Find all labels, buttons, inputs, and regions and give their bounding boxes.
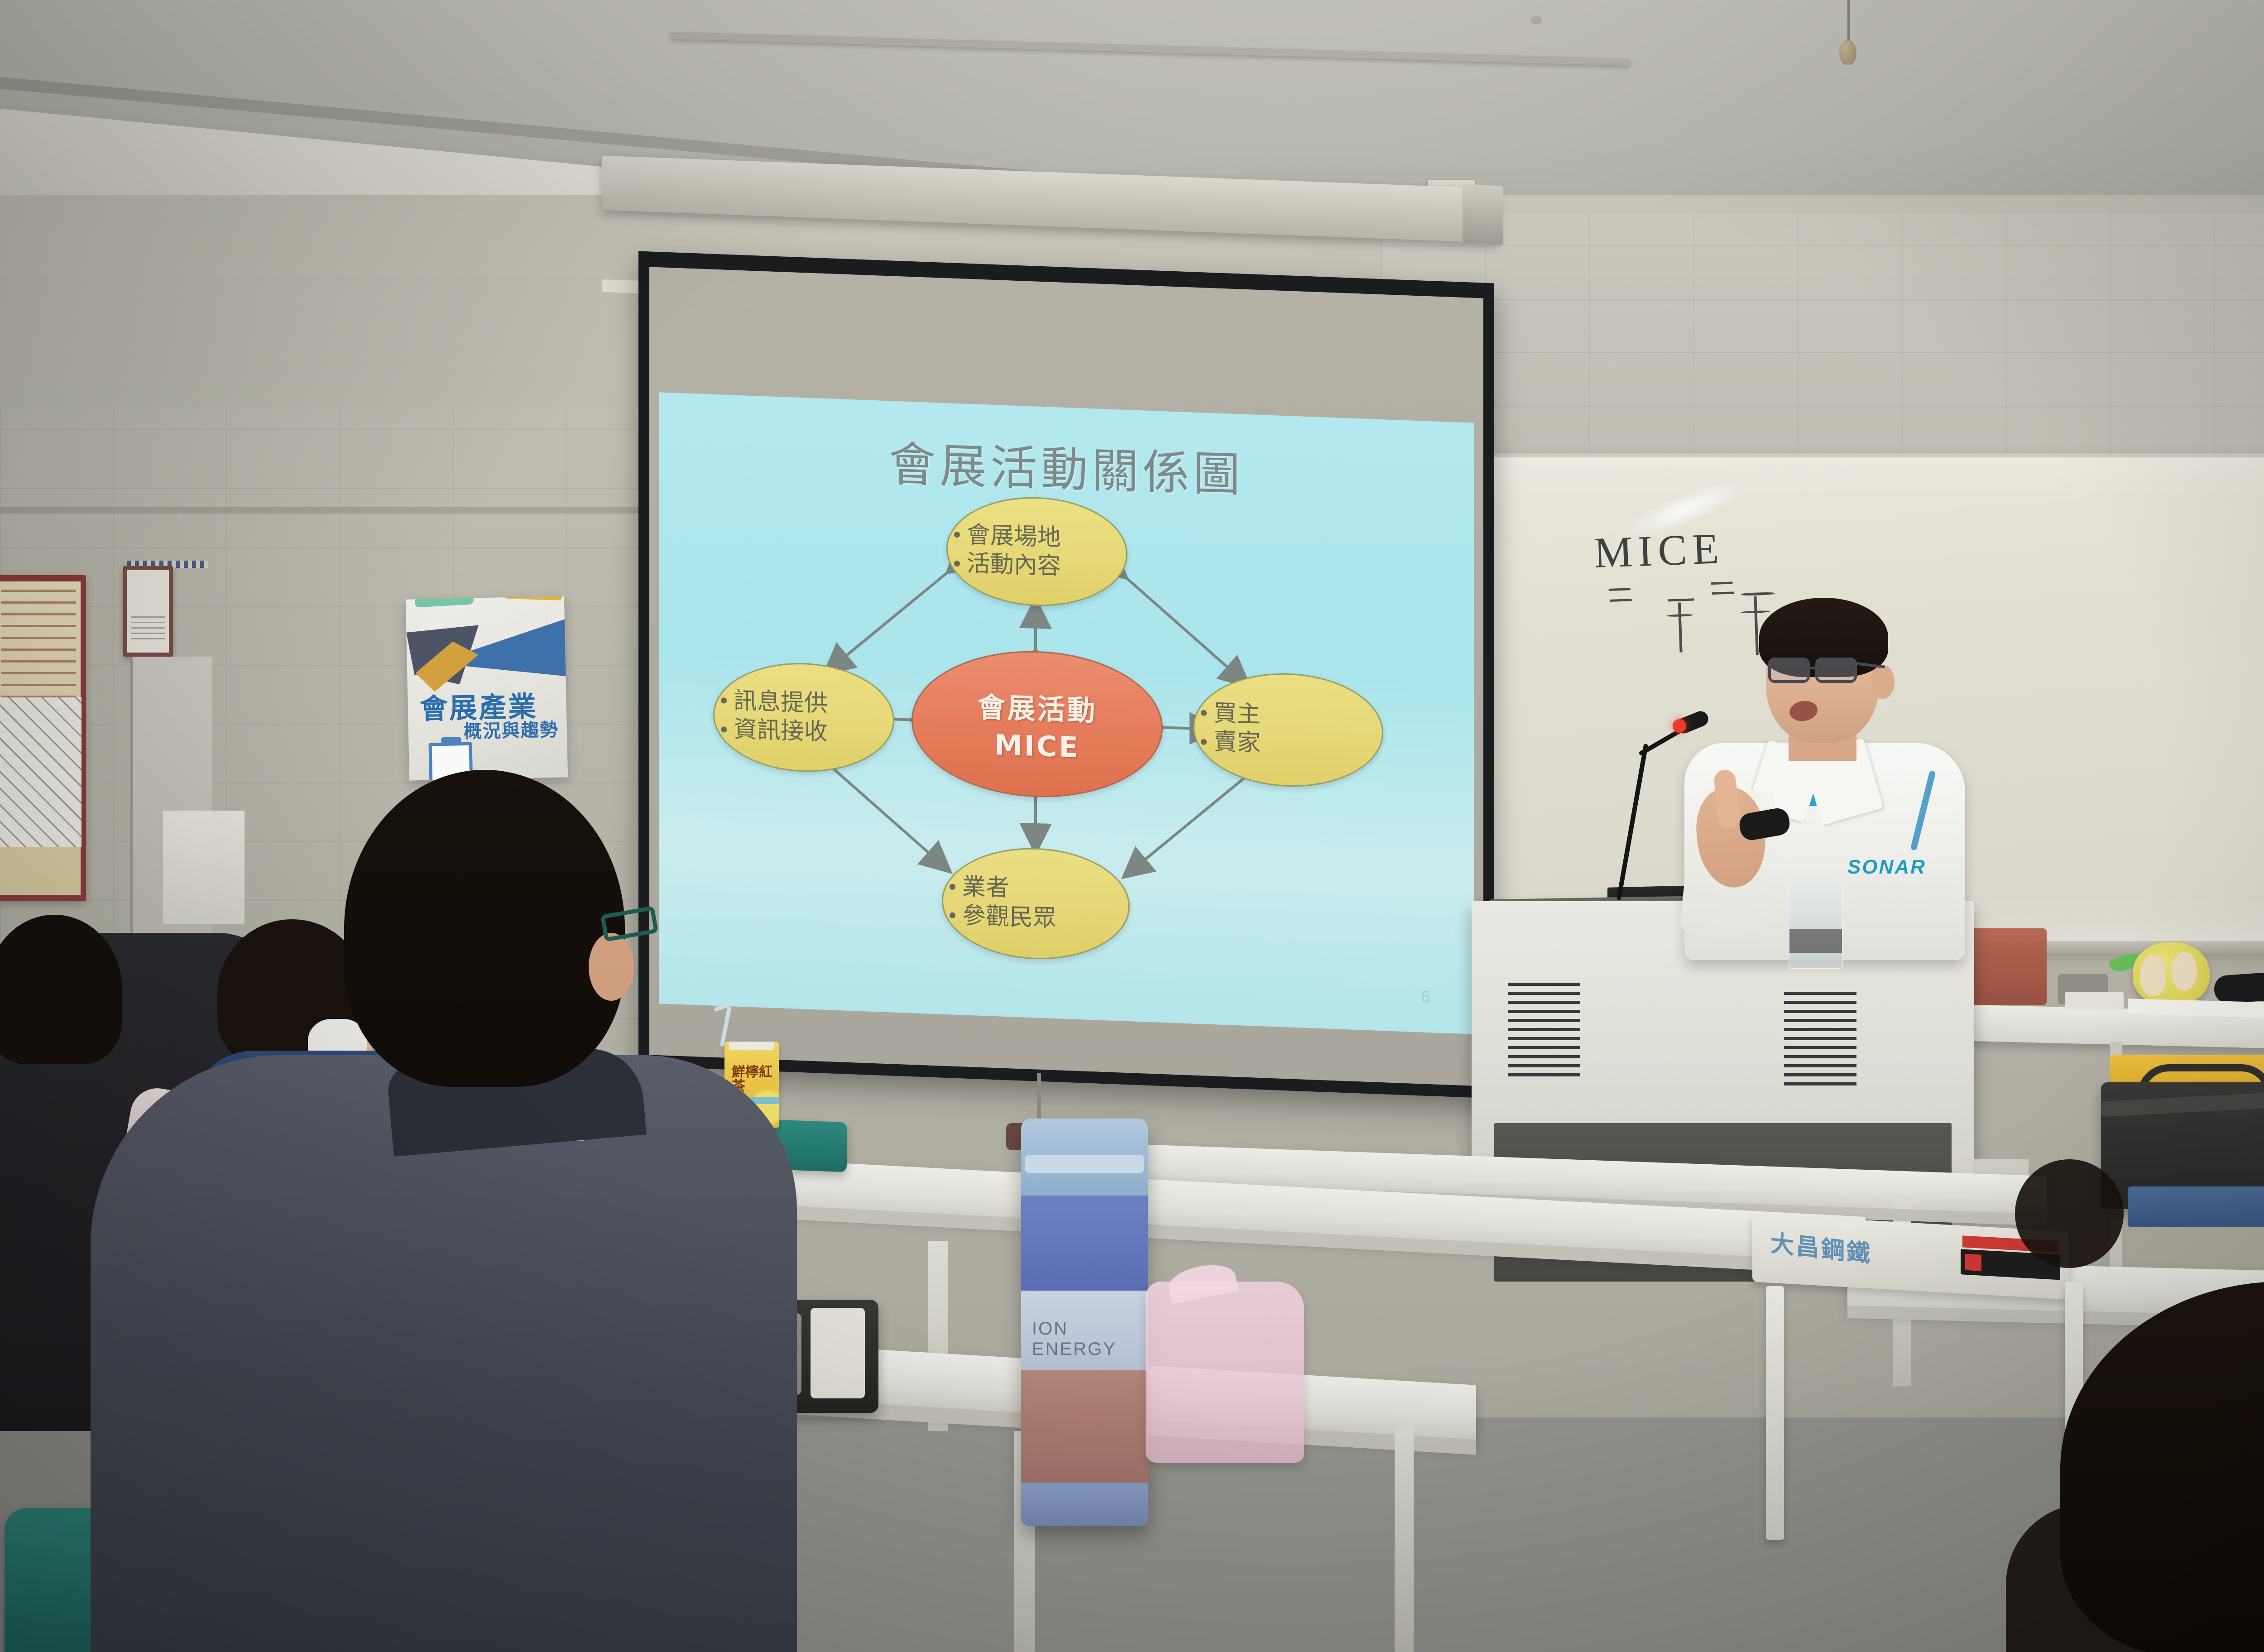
window-security-grill xyxy=(0,697,82,847)
framed-certificate xyxy=(123,566,173,657)
screen-housing-end-cap xyxy=(1463,184,1503,245)
node-left-item-1: 訊息提供 xyxy=(715,686,893,720)
sports-bottle-base xyxy=(1021,1483,1148,1526)
diagram-node-top: 會展場地 活動內容 xyxy=(946,495,1127,609)
center-node-line-1: 會展活動 xyxy=(977,684,1097,728)
sports-water-bottle[interactable]: ION ENERGY xyxy=(1021,1119,1148,1526)
hanging-cable xyxy=(1847,0,1850,45)
student-foreground-ear xyxy=(589,933,634,1001)
speaker-shirt-logo: SONAR xyxy=(1847,856,1926,879)
diagram-node-right: 買主 賣家 xyxy=(1193,671,1383,790)
slide-title: 會展活動關係圖 xyxy=(889,426,1244,505)
node-bottom-item-2: 參觀民眾 xyxy=(943,901,1128,935)
side-wall-poster xyxy=(163,811,245,924)
wall-rail xyxy=(0,507,643,514)
tape-yellow xyxy=(503,596,562,600)
microphone-led-indicator xyxy=(1673,719,1686,733)
certificate-text-lines xyxy=(131,616,165,644)
diagram-node-center: 會展活動 MICE xyxy=(911,648,1163,801)
node-left-item-2: 資訊接收 xyxy=(715,715,893,749)
sports-bottle-sleeve: ION ENERGY xyxy=(1021,1291,1148,1372)
diagram-node-left: 訊息提供 資訊接收 xyxy=(713,660,894,774)
center-node-line-2: MICE xyxy=(994,728,1080,764)
slide-page-number: 6 xyxy=(1420,988,1430,1007)
whiteboard-eraser[interactable] xyxy=(2065,992,2124,1010)
node-top-item-2: 活動內容 xyxy=(948,549,1126,583)
node-right-item-2: 賣家 xyxy=(1194,727,1382,762)
presentation-slide: 會展活動關係圖 xyxy=(659,392,1474,1034)
chair-seat-cushion-blue xyxy=(2128,1186,2264,1227)
sports-bottle-lid-ring xyxy=(1025,1155,1144,1173)
chair-back-text: 大昌鋼鐵 xyxy=(1770,1224,1872,1269)
chair-sticker-logo-icon xyxy=(1965,1254,1981,1271)
pink-plastic-bag[interactable] xyxy=(1146,1282,1304,1463)
classroom-photo-scene: 會展產業 概況與趨勢 MICE 會展活動關係圖 xyxy=(0,0,2264,1652)
plush-toy[interactable] xyxy=(2133,942,2210,1005)
sports-bottle-upper-body xyxy=(1021,1196,1148,1295)
eyeglasses-icon xyxy=(1768,658,1877,684)
juice-carton-cap xyxy=(729,1042,774,1050)
speaker-water-bottle[interactable] xyxy=(1789,879,1843,969)
student-foreground-hair xyxy=(344,770,625,1087)
banner-subtitle: 概況與趨勢 xyxy=(463,715,559,743)
whiteboard-written-text: MICE xyxy=(1593,523,1725,578)
podium-vent-right xyxy=(1784,992,1856,1087)
sports-bottle-brand-text: ION ENERGY xyxy=(1032,1319,1148,1359)
desk-leg-front-right xyxy=(1395,1426,1414,1652)
node-top-item-1: 會展場地 xyxy=(948,520,1126,554)
chair-white-legs xyxy=(1766,1286,1784,1540)
student-right-far-hair xyxy=(2015,1159,2124,1268)
sports-bottle-contents xyxy=(1021,1370,1148,1488)
smoke-detector-icon xyxy=(1530,16,1542,24)
diagram-node-bottom: 業者 參觀民眾 xyxy=(942,845,1130,962)
wall-banner-mice-industry: 會展產業 概況與趨勢 xyxy=(406,596,568,780)
podium-vent-left xyxy=(1508,983,1580,1078)
whiteboard-annotation-marks xyxy=(1604,572,1770,664)
hanging-bulb xyxy=(1839,40,1856,65)
vr-headset-strap xyxy=(811,1308,865,1398)
